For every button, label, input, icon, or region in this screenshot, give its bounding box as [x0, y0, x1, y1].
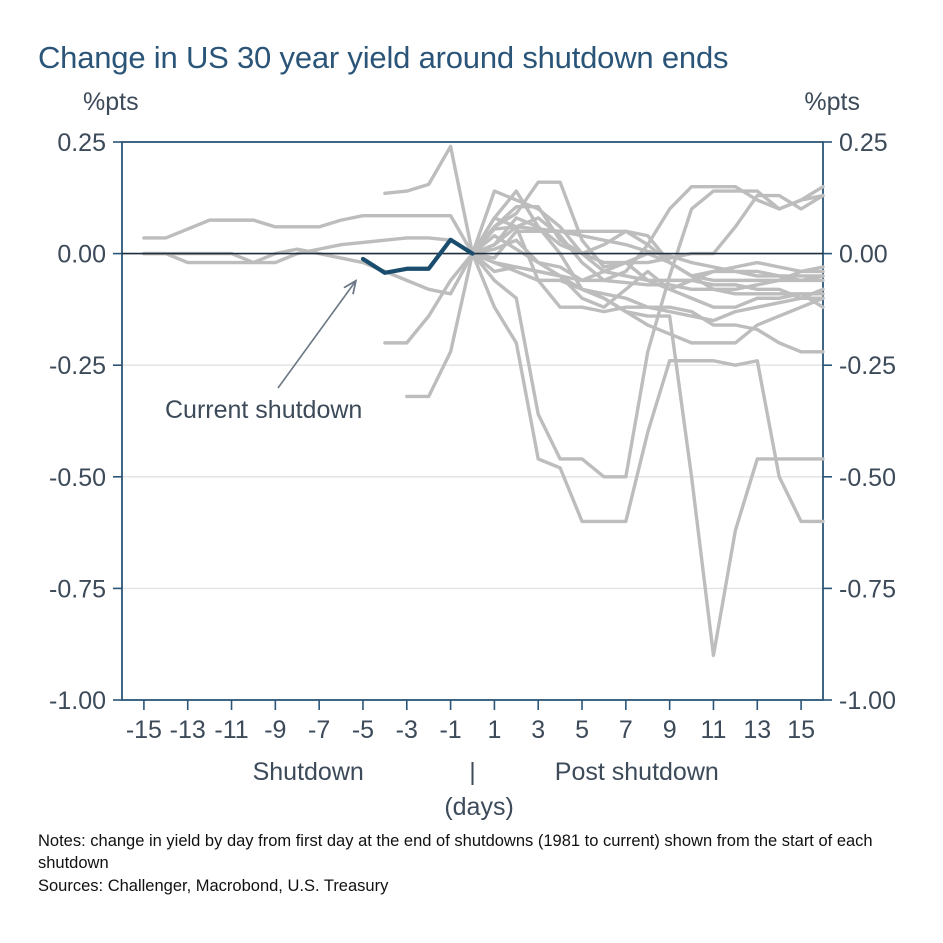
y-axis-tick-label-left: -1.00	[49, 687, 106, 715]
y-axis-tick-label-left: 0.25	[57, 129, 106, 157]
x-axis-tick-label: -13	[170, 716, 206, 744]
x-axis-tick-label: -5	[352, 716, 374, 744]
annotation-arrow-icon	[278, 282, 355, 388]
y-axis-tick-label-right: 0.00	[839, 241, 888, 269]
x-axis-units-label: (days)	[444, 793, 513, 821]
annotation-label-current-shutdown: Current shutdown	[165, 396, 362, 424]
y-axis-tick-label-right: 0.25	[839, 129, 888, 157]
notes-text: Notes: change in yield by day from first…	[38, 830, 918, 875]
x-axis-tick-label: -15	[126, 716, 162, 744]
x-axis-tick-label: -9	[264, 716, 286, 744]
x-axis-tick-label: 5	[575, 716, 589, 744]
x-axis-tick-label: -1	[439, 716, 461, 744]
series-line-current-shutdown	[363, 240, 473, 273]
plot-area: 0.250.250.000.00-0.25-0.25-0.50-0.50-0.7…	[0, 0, 943, 943]
y-axis-tick-label-left: 0.00	[57, 241, 106, 269]
x-axis-tick-label: -7	[308, 716, 330, 744]
x-axis-tick-label: 7	[619, 716, 633, 744]
series-line	[473, 240, 824, 655]
y-axis-tick-label-right: -0.50	[839, 464, 896, 492]
x-axis-tick-label: 3	[531, 716, 545, 744]
y-axis-tick-label-left: -0.75	[49, 575, 106, 603]
line-chart: 0.250.250.000.00-0.25-0.25-0.50-0.50-0.7…	[0, 0, 943, 943]
y-axis-tick-label-left: -0.25	[49, 352, 106, 380]
x-axis-tick-label: 15	[787, 716, 815, 744]
y-axis-tick-label-right: -1.00	[839, 687, 896, 715]
chart-page: Change in US 30 year yield around shutdo…	[0, 0, 943, 943]
x-axis-tick-label: 13	[743, 716, 771, 744]
y-axis-tick-label-right: -0.75	[839, 575, 896, 603]
y-axis-tick-label-left: -0.50	[49, 464, 106, 492]
y-axis-tick-label-right: -0.25	[839, 352, 896, 380]
region-label-post-shutdown: Post shutdown	[555, 758, 719, 786]
x-axis-tick-label: 11	[700, 716, 726, 744]
x-axis-tick-label: -11	[214, 716, 248, 744]
x-axis-tick-label: -3	[396, 716, 418, 744]
region-divider: |	[469, 758, 476, 786]
sources-text: Sources: Challenger, Macrobond, U.S. Tre…	[38, 875, 918, 897]
x-axis-tick-label: 1	[487, 716, 501, 744]
region-label-shutdown: Shutdown	[253, 758, 364, 786]
x-axis-tick-label: 9	[663, 716, 677, 744]
